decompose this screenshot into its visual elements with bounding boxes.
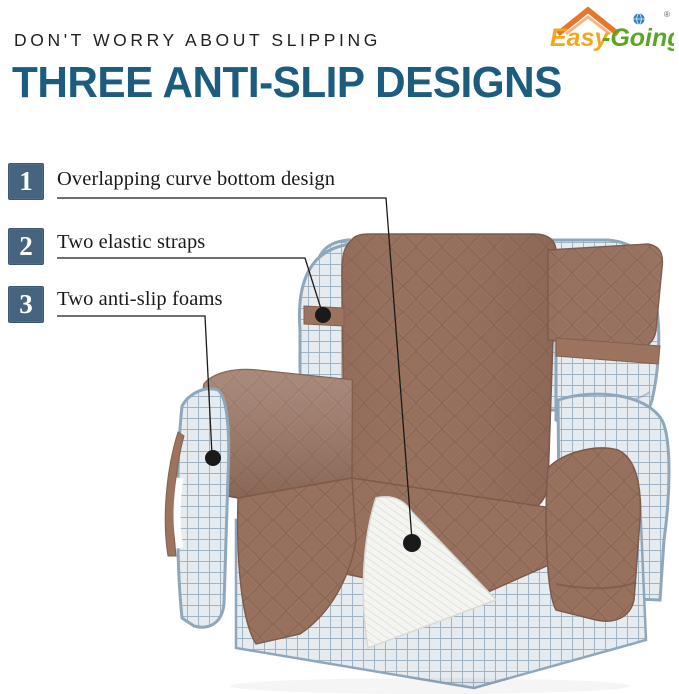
slipcover-right-arm [546,448,640,621]
page-title: THREE ANTI-SLIP DESIGNS [12,58,562,108]
logo-artwork: Easy -Going ® [546,4,674,54]
feature-label-1: Overlapping curve bottom design [57,168,335,191]
feature-badge-1: 1 [8,163,44,200]
logo-word-going: -Going [602,24,674,52]
slipcover-back-panel [342,234,556,512]
backrest-elastic-strap [304,306,344,326]
feature-label-2: Two elastic straps [57,231,205,254]
slipcover-right-drape [548,244,662,364]
feature-badge-3: 3 [8,286,44,323]
eyebrow-text: DON'T WORRY ABOUT SLIPPING [14,30,381,51]
feature-label-3: Two anti-slip foams [57,288,223,311]
infographic-page: DON'T WORRY ABOUT SLIPPING THREE ANTI-SL… [0,0,679,694]
feature-badge-2: 2 [8,228,44,265]
easy-going-logo: Easy -Going ® [546,4,674,54]
registered-mark: ® [664,10,670,19]
logo-word-easy: Easy [550,24,609,52]
chair-left-arm-fabric [178,389,229,627]
